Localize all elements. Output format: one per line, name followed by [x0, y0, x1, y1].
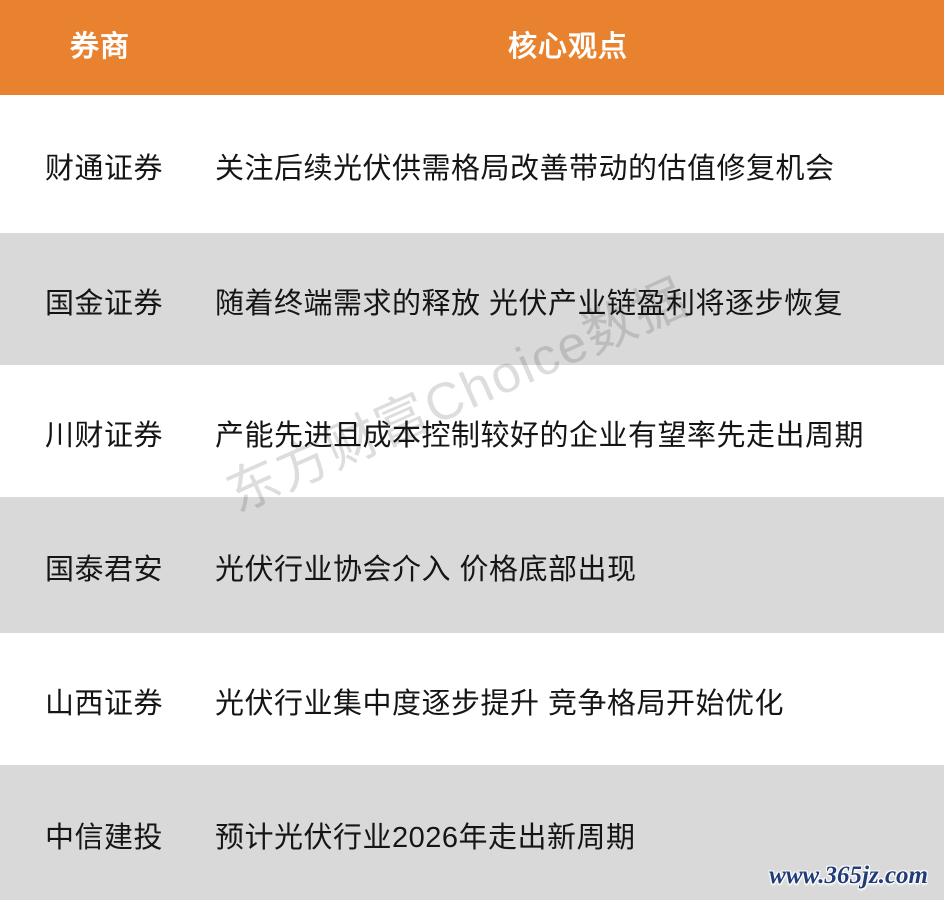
table-row: 财通证券关注后续光伏供需格局改善带动的估值修复机会	[0, 95, 944, 233]
table-screenshot: 券商 核心观点 财通证券关注后续光伏供需格局改善带动的估值修复机会国金证券随着终…	[0, 0, 944, 900]
table-row: 国泰君安光伏行业协会介入 价格底部出现	[0, 497, 944, 633]
table-row: 川财证券产能先进且成本控制较好的企业有望率先走出周期	[0, 365, 944, 497]
cell-view: 关注后续光伏供需格局改善带动的估值修复机会	[215, 145, 835, 187]
cell-view: 光伏行业协会介入 价格底部出现	[215, 546, 637, 588]
cell-broker: 山西证券	[45, 680, 163, 722]
cell-view: 随着终端需求的释放 光伏产业链盈利将逐步恢复	[215, 280, 843, 322]
cell-broker: 财通证券	[45, 145, 163, 187]
column-header-view: 核心观点	[215, 0, 944, 95]
table-row: 国金证券随着终端需求的释放 光伏产业链盈利将逐步恢复	[0, 233, 944, 365]
table-row: 中信建投预计光伏行业2026年走出新周期	[0, 765, 944, 900]
cell-view: 预计光伏行业2026年走出新周期	[215, 814, 636, 856]
cell-view: 产能先进且成本控制较好的企业有望率先走出周期	[215, 412, 864, 454]
table-body: 财通证券关注后续光伏供需格局改善带动的估值修复机会国金证券随着终端需求的释放 光…	[0, 95, 944, 900]
table-header-row: 券商 核心观点	[0, 0, 944, 95]
cell-broker: 川财证券	[45, 412, 163, 454]
cell-broker: 中信建投	[45, 814, 163, 856]
cell-broker: 国泰君安	[45, 546, 163, 588]
table-row: 山西证券光伏行业集中度逐步提升 竞争格局开始优化	[0, 633, 944, 765]
cell-broker: 国金证券	[45, 280, 163, 322]
column-header-broker: 券商	[70, 0, 130, 95]
cell-view: 光伏行业集中度逐步提升 竞争格局开始优化	[215, 680, 784, 722]
